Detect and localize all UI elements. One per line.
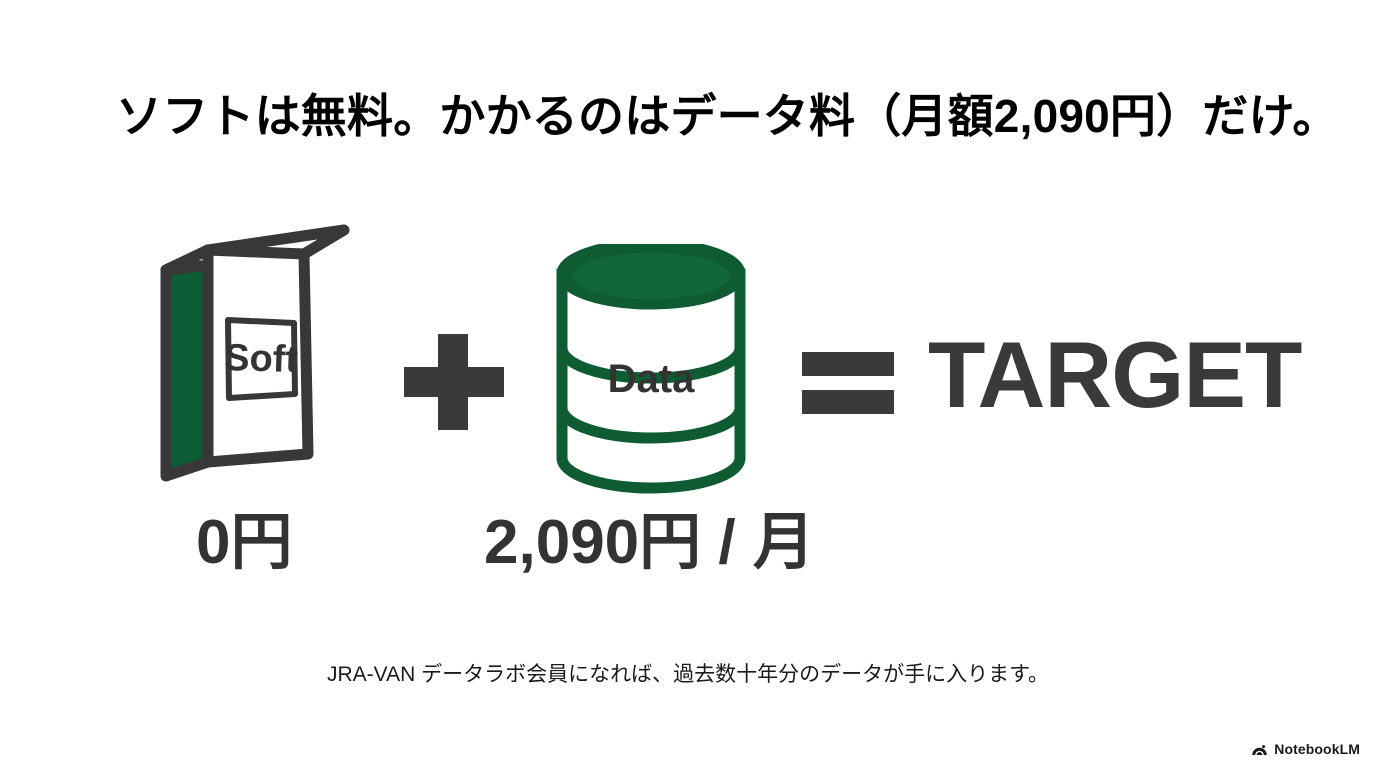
price-row: 0円 2,090円 / 月	[0, 502, 1376, 582]
data-price-label: 2,090円 / 月	[484, 512, 815, 574]
plus-operator-icon	[398, 330, 510, 434]
notebooklm-arc-icon	[1251, 742, 1268, 756]
soft-price-label: 0円	[196, 512, 292, 574]
database-cylinder-icon: Data	[552, 244, 750, 500]
target-wordmark: TARGET	[928, 328, 1301, 422]
software-box-icon: Soft	[148, 224, 360, 486]
equation-row: Soft Data	[0, 224, 1376, 484]
notebooklm-watermark: NotebookLM	[1251, 742, 1360, 756]
notebooklm-watermark-label: NotebookLM	[1274, 742, 1360, 756]
page-title: ソフトは無料。かかるのはデータ料（月額2,090円）だけ。	[116, 88, 1296, 146]
footnote-caption: JRA-VAN データラボ会員になれば、過去数十年分のデータが手に入ります。	[0, 660, 1376, 689]
database-label: Data	[608, 357, 695, 401]
slide-canvas: ソフトは無料。かかるのはデータ料（月額2,090円）だけ。 Soft	[0, 0, 1376, 768]
equals-operator-icon	[800, 350, 896, 416]
software-box-label: Soft	[224, 337, 299, 381]
